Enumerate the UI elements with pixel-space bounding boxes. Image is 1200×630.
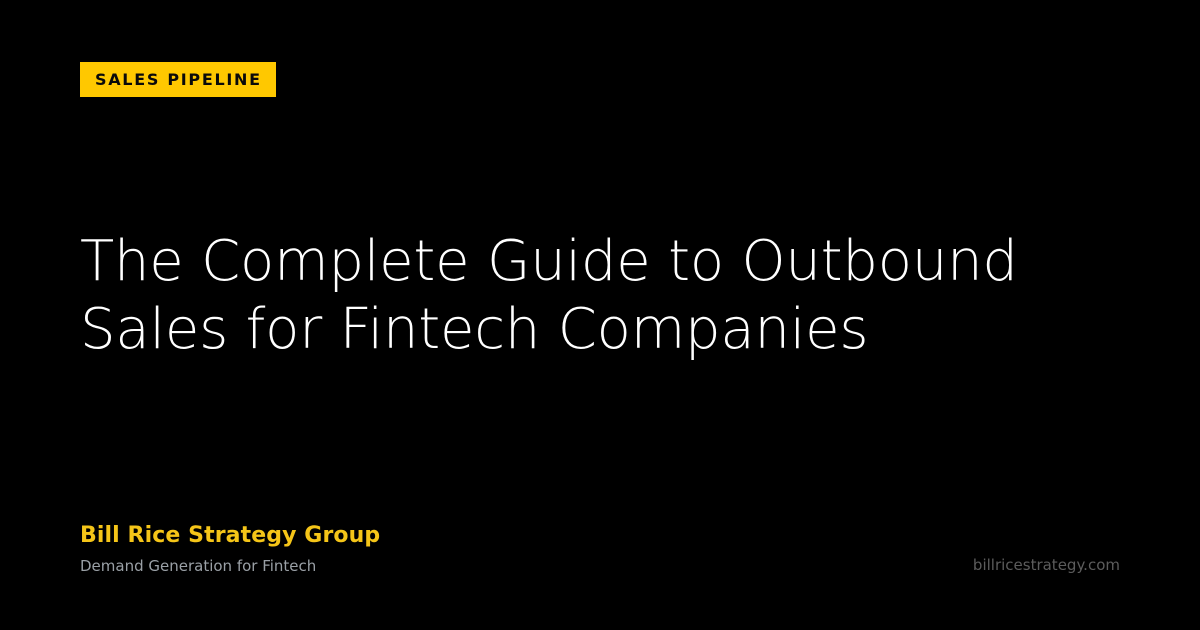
- card-footer: Bill Rice Strategy Group Demand Generati…: [80, 523, 1120, 575]
- category-badge-container: SALES PIPELINE: [80, 62, 276, 97]
- page-title: The Complete Guide to Outbound Sales for…: [80, 228, 1090, 364]
- brand-block: Bill Rice Strategy Group Demand Generati…: [80, 523, 380, 575]
- brand-name: Bill Rice Strategy Group: [80, 523, 380, 549]
- page-title-line-1: The Complete Guide to Outbound: [80, 228, 1090, 296]
- site-url: billricestrategy.com: [973, 556, 1120, 575]
- page-title-line-2: Sales for Fintech Companies: [80, 296, 1090, 364]
- social-share-card: SALES PIPELINE The Complete Guide to Out…: [0, 0, 1200, 630]
- brand-tagline: Demand Generation for Fintech: [80, 557, 380, 575]
- category-badge: SALES PIPELINE: [80, 62, 276, 97]
